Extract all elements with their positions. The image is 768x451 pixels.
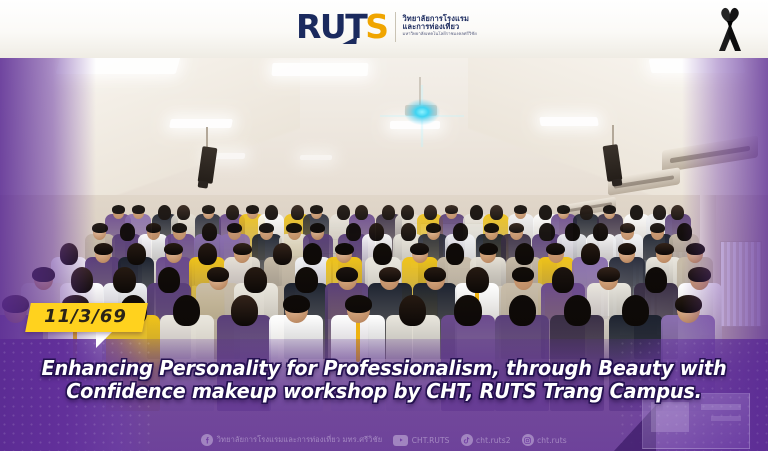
participant-hair (410, 243, 429, 255)
participant-hair (286, 223, 301, 233)
social-link-tiktok[interactable]: cht.ruts2 (461, 434, 511, 446)
caption-block: Enhancing Personality for Professionalis… (0, 357, 768, 403)
participant-hair (426, 223, 441, 233)
participant-hair (446, 243, 465, 265)
participant-hair (146, 223, 161, 233)
ruts-wordmark: RUT S (296, 10, 388, 43)
participant-hair (283, 295, 310, 313)
participant-hair (470, 205, 483, 220)
social-handle-label: วิทยาลัยการโรงแรมและการท่องเที่ยว มทร.ศร… (217, 434, 383, 446)
participant-hair (202, 205, 215, 214)
participant-hair (164, 243, 183, 255)
participant-hair (645, 267, 667, 293)
participant-hair (622, 295, 649, 326)
participant-hair (369, 223, 384, 241)
social-footer: วิทยาลัยการโรงแรมและการท่องเที่ยว มทร.ศร… (0, 434, 768, 446)
participant-hair (259, 223, 274, 233)
participant-hair (2, 295, 29, 313)
participant-hair (552, 267, 574, 293)
participant-hair (650, 223, 665, 233)
participant-hair (445, 205, 458, 214)
social-handle-label: cht.ruts2 (476, 436, 511, 445)
participant-hair (207, 267, 229, 282)
participant-hair (479, 243, 498, 255)
participant-hair (265, 205, 278, 220)
social-handle-label: CHT.RUTS (412, 436, 450, 445)
social-link-instagram[interactable]: cht.ruts (522, 434, 567, 446)
participant-hair (310, 223, 325, 233)
participant-hair (677, 223, 692, 241)
logo-mark-accent: S (365, 10, 387, 43)
participant-hair (291, 205, 304, 220)
participant-hair (630, 205, 643, 220)
participant-hair (336, 267, 358, 282)
participant-hair (32, 267, 54, 282)
participant-hair (399, 295, 426, 326)
participant-hair (71, 267, 93, 293)
participant-hair (618, 243, 637, 255)
participant-hair (345, 295, 372, 313)
participant-hair (355, 205, 368, 220)
participant-hair (112, 205, 125, 214)
caption-line-1: Enhancing Personality for Professionalis… (23, 357, 745, 380)
participant-hair (603, 205, 616, 214)
participant-hair (564, 295, 591, 326)
participant-hair (490, 205, 503, 220)
participant-hair (620, 223, 635, 233)
participant-hair (373, 243, 392, 265)
participant-hair (424, 267, 446, 282)
participant-hair (227, 223, 242, 233)
participant-hair (158, 267, 180, 293)
participant-hair (120, 223, 135, 241)
participant-hair (515, 243, 534, 265)
participant-hair (580, 205, 593, 220)
participant-hair (565, 223, 580, 241)
participant-hair (509, 295, 536, 326)
participant-hair (246, 205, 259, 214)
ruts-logo[interactable]: RUT S วิทยาลัยการโรงแรม และการท่องเที่ยว… (296, 10, 477, 43)
tiktok-icon (461, 434, 473, 446)
participant-hair (60, 243, 79, 265)
participant-hair (539, 223, 554, 241)
poster-root: 11/3/69 Enhancing Personality for Profes… (0, 0, 768, 451)
participant-hair (424, 205, 437, 220)
participant-hair (453, 223, 468, 241)
facebook-icon (201, 434, 213, 446)
date-badge: 11/3/69 (25, 303, 147, 332)
participant-hair (202, 223, 217, 241)
participant-hair (671, 205, 684, 220)
participant-hair (484, 223, 499, 233)
participant-hair (379, 267, 401, 282)
participant-hair (675, 295, 702, 313)
participant-hair (597, 267, 619, 282)
logo-divider (395, 12, 396, 42)
instagram-icon (522, 434, 534, 446)
participant-hair (310, 205, 323, 214)
participant-hair (113, 267, 135, 293)
participant-hair (466, 267, 488, 293)
participant-hair (303, 243, 322, 265)
logo-thai-line-2: และการท่องเที่ยว (403, 23, 477, 31)
participant-hair (335, 243, 354, 255)
participant-hair (509, 223, 524, 233)
date-badge-label: 11/3/69 (44, 308, 127, 326)
participant-hair (198, 243, 217, 265)
participant-hair (132, 205, 145, 214)
participant-hair (273, 243, 292, 265)
participant-hair (581, 243, 600, 265)
participant-hair (233, 243, 252, 255)
participant-hair (173, 295, 200, 326)
participant-hair (346, 223, 361, 241)
black-ribbon-icon (710, 6, 750, 52)
participant-hair (244, 267, 266, 293)
participant-hair (512, 267, 534, 282)
participant-hair (172, 223, 187, 233)
participant-hair (655, 243, 674, 255)
participant-hair (295, 267, 317, 293)
participant-hair (127, 243, 146, 265)
participant-hair (92, 223, 107, 233)
participant-hair (688, 267, 710, 282)
social-link-facebook[interactable]: วิทยาลัยการโรงแรมและการท่องเที่ยว มทร.ศร… (201, 434, 382, 446)
participant-hair (686, 243, 705, 255)
participant-hair (401, 205, 414, 220)
participant-hair (177, 205, 190, 220)
youtube-icon (393, 435, 408, 446)
participant-hair (158, 205, 171, 220)
participant-hair (593, 223, 608, 241)
social-link-youtube[interactable]: CHT.RUTS (393, 435, 449, 446)
participant-hair (382, 205, 395, 220)
logo-thai-text: วิทยาลัยการโรงแรม และการท่องเที่ยว มหาวิ… (403, 15, 477, 38)
participant-hair (454, 295, 481, 326)
participant-hair (231, 295, 258, 326)
participant-hair (226, 205, 239, 220)
logo-thai-line-3: มหาวิทยาลัยเทคโนโลยีราชมงคลศรีวิชัย (403, 33, 477, 38)
social-handle-label: cht.ruts (537, 436, 567, 445)
participant-hair (94, 243, 113, 255)
header-bar: RUT S วิทยาลัยการโรงแรม และการท่องเที่ยว… (0, 0, 768, 58)
participant-hair (557, 205, 570, 214)
participant-hair (514, 205, 527, 214)
participant-hair (401, 223, 416, 241)
participant-hair (337, 205, 350, 220)
caption-line-2: Confidence makeup workshop by CHT, RUTS … (23, 380, 745, 403)
